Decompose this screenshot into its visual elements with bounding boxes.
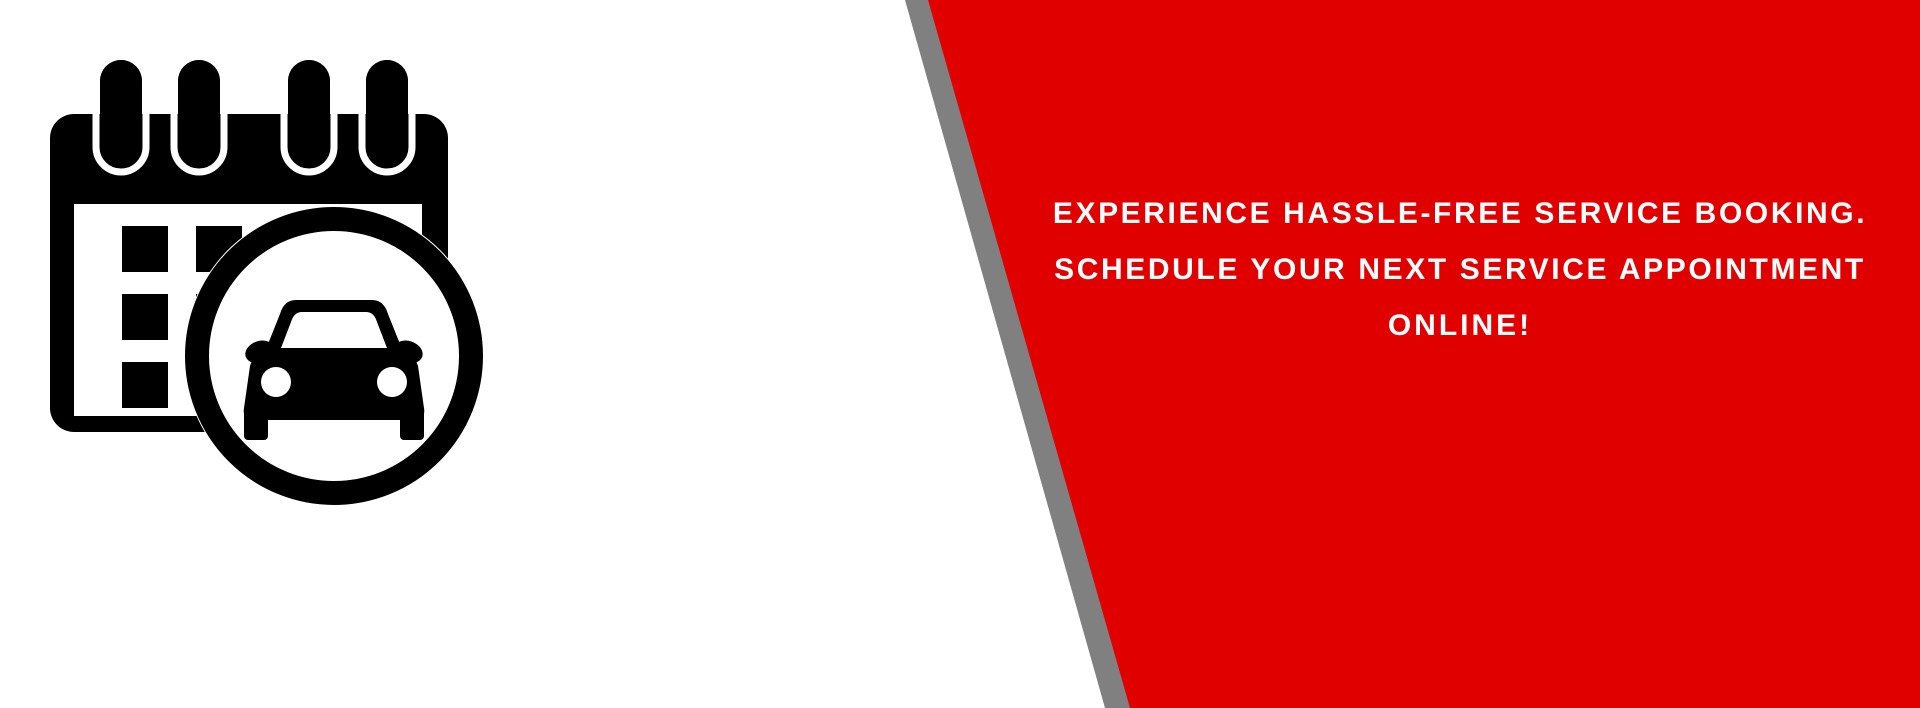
promo-line-2: SCHEDULE YOUR NEXT SERVICE APPOINTMENT — [1040, 242, 1880, 298]
promo-line-1: EXPERIENCE HASSLE-FREE SERVICE BOOKING. — [1040, 186, 1880, 242]
promo-line-3: ONLINE! — [1040, 298, 1880, 354]
calendar-car-service-icon — [44, 46, 644, 506]
car-circle-badge-icon — [184, 206, 484, 506]
service-booking-banner: EXPERIENCE HASSLE-FREE SERVICE BOOKING. … — [0, 0, 1920, 708]
promo-text-block: EXPERIENCE HASSLE-FREE SERVICE BOOKING. … — [1040, 186, 1880, 354]
